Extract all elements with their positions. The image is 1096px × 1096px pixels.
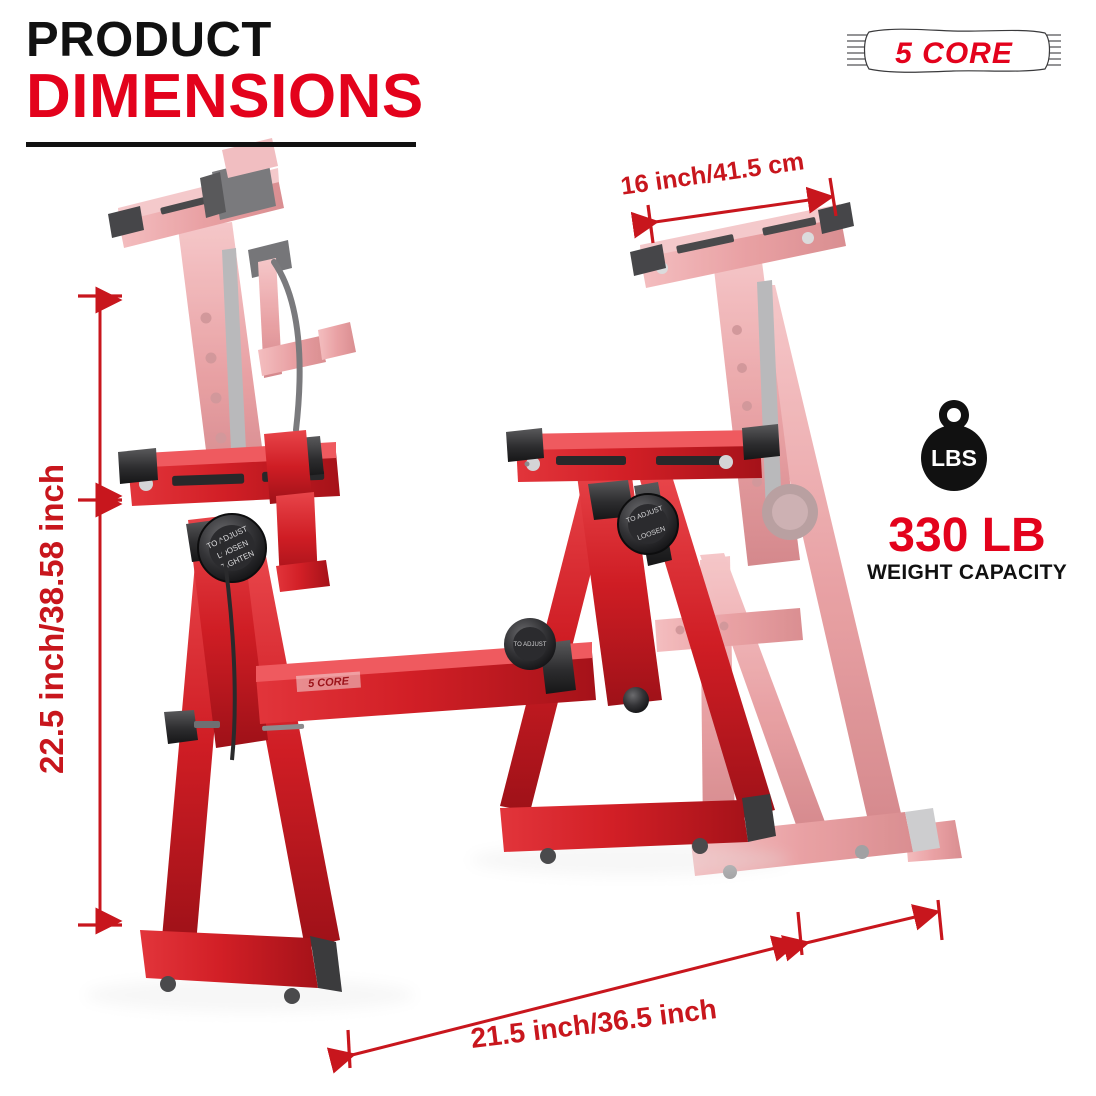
weight-icon-label: LBS: [931, 445, 977, 471]
crossbar-knob: TO ADJUST: [504, 618, 556, 670]
dimension-label-height: 22.5 inch/38.58 inch: [33, 389, 71, 849]
weight-capacity-value: 330 LB: [858, 512, 1076, 560]
kettlebell-weight-icon: LBS: [915, 398, 993, 494]
logo-text: 5 CORE: [895, 37, 1013, 70]
adjustment-knob-left: TO ADJUST LOOSEN TIGHTEN: [198, 514, 266, 582]
infographic-canvas: TO ADJUST LOOSEN: [0, 0, 1096, 1096]
product-stand-left: TO ADJUST LOOSEN TIGHTEN 5 CORE: [85, 430, 596, 1012]
pivot-knob-middle: [623, 687, 649, 713]
adjustment-knob-upper: TO ADJUST LOOSEN: [618, 494, 678, 554]
svg-text:TO ADJUST: TO ADJUST: [514, 642, 547, 648]
page-title-primary: PRODUCT: [26, 16, 272, 65]
weight-capacity-label: WEIGHT CAPACITY: [858, 562, 1076, 583]
title-divider: [26, 142, 416, 147]
brand-logo: 5 CORE: [845, 28, 1063, 74]
page-title-secondary: DIMENSIONS: [26, 66, 424, 128]
